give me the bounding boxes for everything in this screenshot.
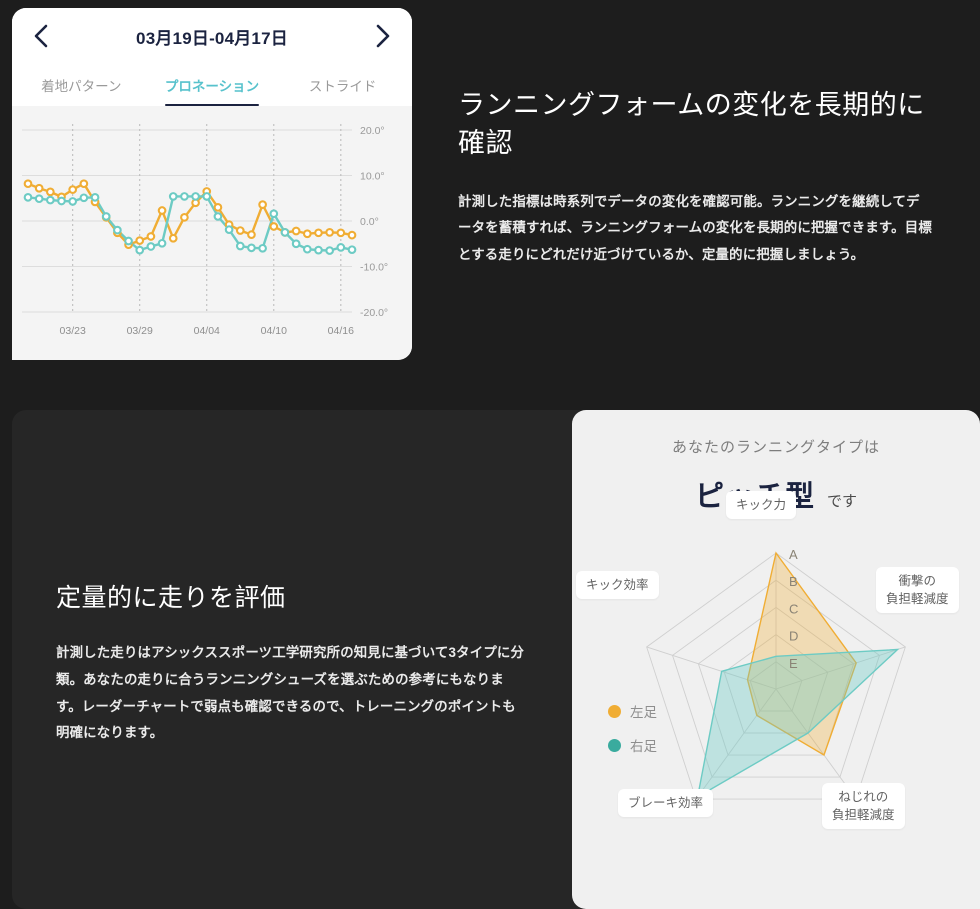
svg-text:A: A xyxy=(789,547,798,562)
running-type-card: あなたのランニングタイプは ピッチ型です ABCDE キック力 衝撃の 負担軽減… xyxy=(572,410,980,909)
chevron-right-icon[interactable] xyxy=(368,21,398,51)
radar-axis-label-kick-efficiency: キック効率 xyxy=(576,571,659,599)
twist-line-2: 負担軽減度 xyxy=(832,808,895,822)
tab-stride[interactable]: ストライド xyxy=(277,64,408,106)
evaluation-card: 定量的に走りを評価 計測した走りはアシックススポーツ工学研究所の知見に基づいて3… xyxy=(12,410,580,909)
chevron-left-icon[interactable] xyxy=(26,21,56,51)
pronation-line-chart: 20.0°10.0°0.0°-10.0°-20.0°03/2303/2904/0… xyxy=(12,106,412,360)
legend-label-right-foot: 右足 xyxy=(630,735,657,755)
impact-line-1: 衝撃の xyxy=(899,574,937,588)
bottom-body: 計測した走りはアシックススポーツ工学研究所の知見に基づいて3タイプに分類。あなた… xyxy=(56,640,526,747)
legend-label-left-foot: 左足 xyxy=(630,701,657,721)
twist-line-1: ねじれの xyxy=(838,790,888,804)
tab-landing-pattern[interactable]: 着地パターン xyxy=(16,64,147,106)
tab-pronation[interactable]: プロネーション xyxy=(147,64,278,106)
radar-legend: 左足 右足 xyxy=(608,701,657,769)
impact-line-2: 負担軽減度 xyxy=(886,592,949,606)
top-text-block: ランニングフォームの変化を長期的に確認 計測した指標は時系列でデータの変化を確認… xyxy=(458,86,932,269)
running-type-suffix: です xyxy=(827,493,857,510)
radar-title: あなたのランニングタイプは xyxy=(572,436,980,457)
metric-tabs: 着地パターン プロネーション ストライド xyxy=(12,64,412,106)
top-body: 計測した指標は時系列でデータの変化を確認可能。ランニングを継続してデータを蓄積す… xyxy=(458,189,932,269)
svg-text:03/23: 03/23 xyxy=(60,325,86,337)
top-heading: ランニングフォームの変化を長期的に確認 xyxy=(458,86,932,163)
svg-text:B: B xyxy=(789,574,798,589)
radar-chart: ABCDE キック力 衝撃の 負担軽減度 ねじれの 負担軽減度 ブレーキ効率 キ… xyxy=(572,519,980,889)
phone-header: 03月19日-04月17日 xyxy=(12,8,412,64)
legend-dot-left-foot xyxy=(608,705,621,718)
svg-text:04/16: 04/16 xyxy=(328,325,354,337)
radar-axis-label-brake: ブレーキ効率 xyxy=(618,789,713,817)
svg-text:03/29: 03/29 xyxy=(127,325,153,337)
svg-text:10.0°: 10.0° xyxy=(360,171,385,183)
svg-text:E: E xyxy=(789,656,798,671)
svg-text:0.0°: 0.0° xyxy=(360,216,379,228)
bottom-text-block: 定量的に走りを評価 計測した走りはアシックススポーツ工学研究所の知見に基づいて3… xyxy=(56,578,526,747)
top-section: 03月19日-04月17日 着地パターン プロネーション ストライド 20.0°… xyxy=(0,0,980,368)
legend-item-left-foot: 左足 xyxy=(608,701,657,721)
date-range-label: 03月19日-04月17日 xyxy=(136,24,288,49)
radar-axis-label-twist: ねじれの 負担軽減度 xyxy=(822,783,905,829)
svg-text:-20.0°: -20.0° xyxy=(360,307,388,319)
bottom-section: 定量的に走りを評価 計測した走りはアシックススポーツ工学研究所の知見に基づいて3… xyxy=(0,410,980,909)
pronation-phone-card: 03月19日-04月17日 着地パターン プロネーション ストライド 20.0°… xyxy=(12,8,412,360)
radar-axis-label-kick-power: キック力 xyxy=(726,491,796,519)
radar-axis-label-impact: 衝撃の 負担軽減度 xyxy=(876,567,959,613)
svg-text:-10.0°: -10.0° xyxy=(360,262,388,274)
svg-text:04/04: 04/04 xyxy=(194,325,220,337)
svg-text:C: C xyxy=(789,601,798,616)
legend-item-right-foot: 右足 xyxy=(608,735,657,755)
svg-text:04/10: 04/10 xyxy=(261,325,287,337)
bottom-heading: 定量的に走りを評価 xyxy=(56,578,526,614)
svg-text:D: D xyxy=(789,629,798,644)
legend-dot-right-foot xyxy=(608,739,621,752)
svg-text:20.0°: 20.0° xyxy=(360,125,385,137)
